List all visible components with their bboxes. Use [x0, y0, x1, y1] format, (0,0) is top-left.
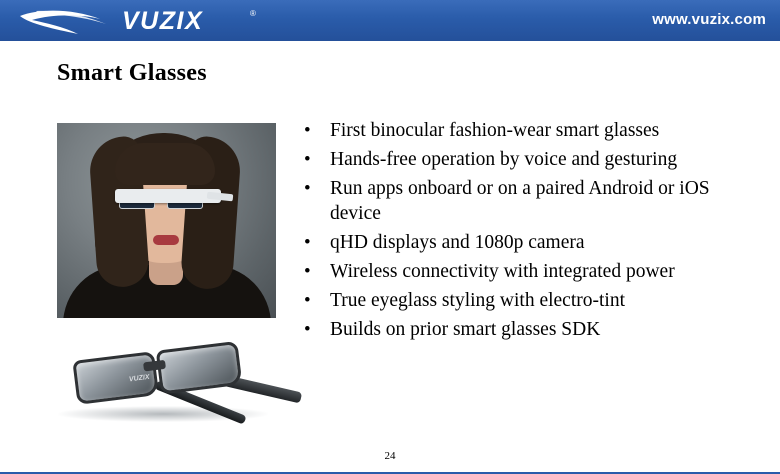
bullet-marker-icon: • — [300, 288, 330, 313]
vuzix-swoosh-icon — [18, 7, 114, 37]
list-item-text: Builds on prior smart glasses SDK — [330, 317, 720, 342]
photo-lips — [153, 235, 179, 245]
photo-bangs — [115, 143, 215, 185]
list-item: • True eyeglass styling with electro-tin… — [300, 288, 720, 313]
photo-glasses-frame — [115, 189, 221, 203]
list-item-text: Hands-free operation by voice and gestur… — [330, 147, 720, 172]
page-title: Smart Glasses — [57, 60, 207, 87]
list-item: • qHD displays and 1080p camera — [300, 230, 720, 255]
list-item-text: qHD displays and 1080p camera — [330, 230, 720, 255]
feature-bullet-list: • First binocular fashion-wear smart gla… — [300, 118, 720, 346]
list-item-text: First binocular fashion-wear smart glass… — [330, 118, 720, 143]
smart-glasses-product-photo: VUZIX — [36, 330, 306, 435]
page-number: 24 — [0, 450, 780, 462]
brand-name: VUZIX — [122, 7, 203, 36]
list-item-text: Wireless connectivity with integrated po… — [330, 259, 720, 284]
trademark-symbol: ® — [250, 9, 256, 18]
woman-wearing-smart-glasses-photo — [57, 123, 276, 318]
list-item-text: Run apps onboard or on a paired Android … — [330, 176, 720, 226]
list-item: • Hands-free operation by voice and gest… — [300, 147, 720, 172]
bullet-marker-icon: • — [300, 259, 330, 284]
list-item-text: True eyeglass styling with electro-tint — [330, 288, 720, 313]
slide-header-bar: VUZIX ® www.vuzix.com — [0, 0, 780, 41]
bullet-marker-icon: • — [300, 176, 330, 201]
list-item: • Wireless connectivity with integrated … — [300, 259, 720, 284]
website-url[interactable]: www.vuzix.com — [652, 11, 766, 28]
vuzix-logo: VUZIX ® — [18, 3, 268, 39]
bullet-marker-icon: • — [300, 147, 330, 172]
list-item: • Builds on prior smart glasses SDK — [300, 317, 720, 342]
list-item: • Run apps onboard or on a paired Androi… — [300, 176, 720, 226]
bullet-marker-icon: • — [300, 230, 330, 255]
list-item: • First binocular fashion-wear smart gla… — [300, 118, 720, 143]
bullet-marker-icon: • — [300, 118, 330, 143]
product-frame: VUZIX — [72, 337, 256, 401]
bullet-marker-icon: • — [300, 317, 330, 342]
